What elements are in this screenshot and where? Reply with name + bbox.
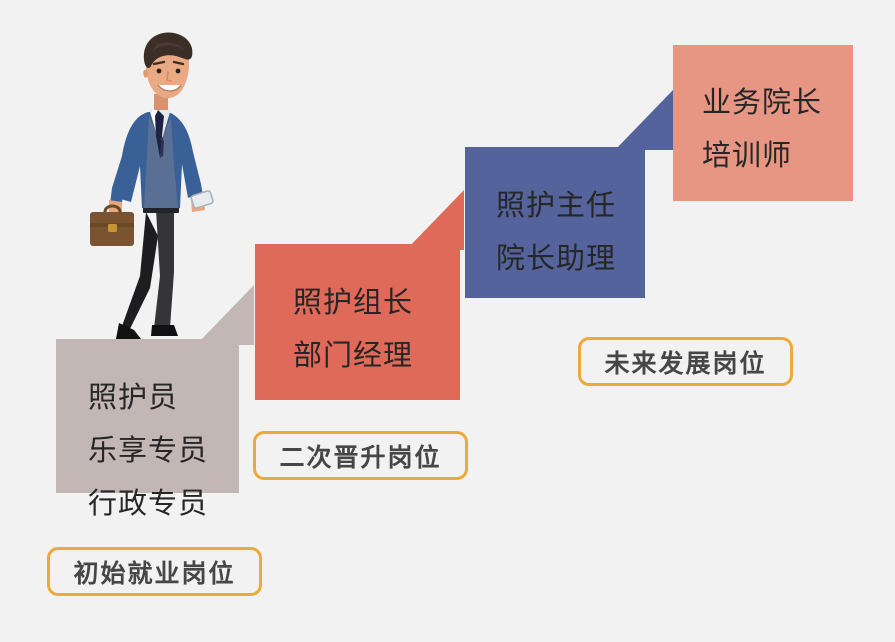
step-4-line-1: 业务院长 — [702, 77, 822, 130]
step-2-tread — [255, 244, 460, 265]
badge-future-development[interactable]: 未来发展岗位 — [578, 337, 793, 386]
step-2-text: 照护组长 部门经理 — [293, 277, 413, 383]
career-ladder-infographic: 业务院长 培训师 照护主任 院长助理 照护组长 部门经理 照护员 乐享专员 行政… — [0, 0, 895, 642]
badge-initial-label: 初始就业岗位 — [73, 554, 235, 590]
step-3-line-2: 院长助理 — [496, 233, 616, 286]
figure-head — [143, 32, 192, 98]
step-4-line-2: 培训师 — [702, 130, 822, 183]
step-2-line-2: 部门经理 — [293, 330, 413, 383]
step-3-text: 照护主任 院长助理 — [496, 180, 616, 286]
step-3-shadow-triangle — [406, 190, 464, 250]
step-1-line-1: 照护员 — [88, 372, 208, 425]
step-2-riser — [255, 244, 277, 400]
step-3-tread — [465, 147, 645, 168]
step-4-shadow-triangle — [615, 90, 673, 150]
step-1-text: 照护员 乐享专员 行政专员 — [88, 372, 208, 531]
walking-businessman-illustration — [88, 26, 228, 356]
figure-briefcase — [90, 206, 134, 246]
step-1-line-3: 行政专员 — [88, 478, 208, 531]
step-3-riser — [465, 147, 487, 298]
badge-second-label: 二次晋升岗位 — [279, 438, 441, 474]
badge-future-label: 未来发展岗位 — [604, 344, 766, 380]
step-1-line-2: 乐享专员 — [88, 425, 208, 478]
step-3-line-1: 照护主任 — [496, 180, 616, 233]
badge-second-promotion[interactable]: 二次晋升岗位 — [253, 431, 468, 480]
step-2-line-1: 照护组长 — [293, 277, 413, 330]
badge-initial-employment[interactable]: 初始就业岗位 — [47, 547, 262, 596]
step-1-riser — [56, 339, 78, 493]
step-4-text: 业务院长 培训师 — [702, 77, 822, 183]
step-4-riser — [673, 45, 695, 201]
step-4-tread — [673, 45, 853, 66]
